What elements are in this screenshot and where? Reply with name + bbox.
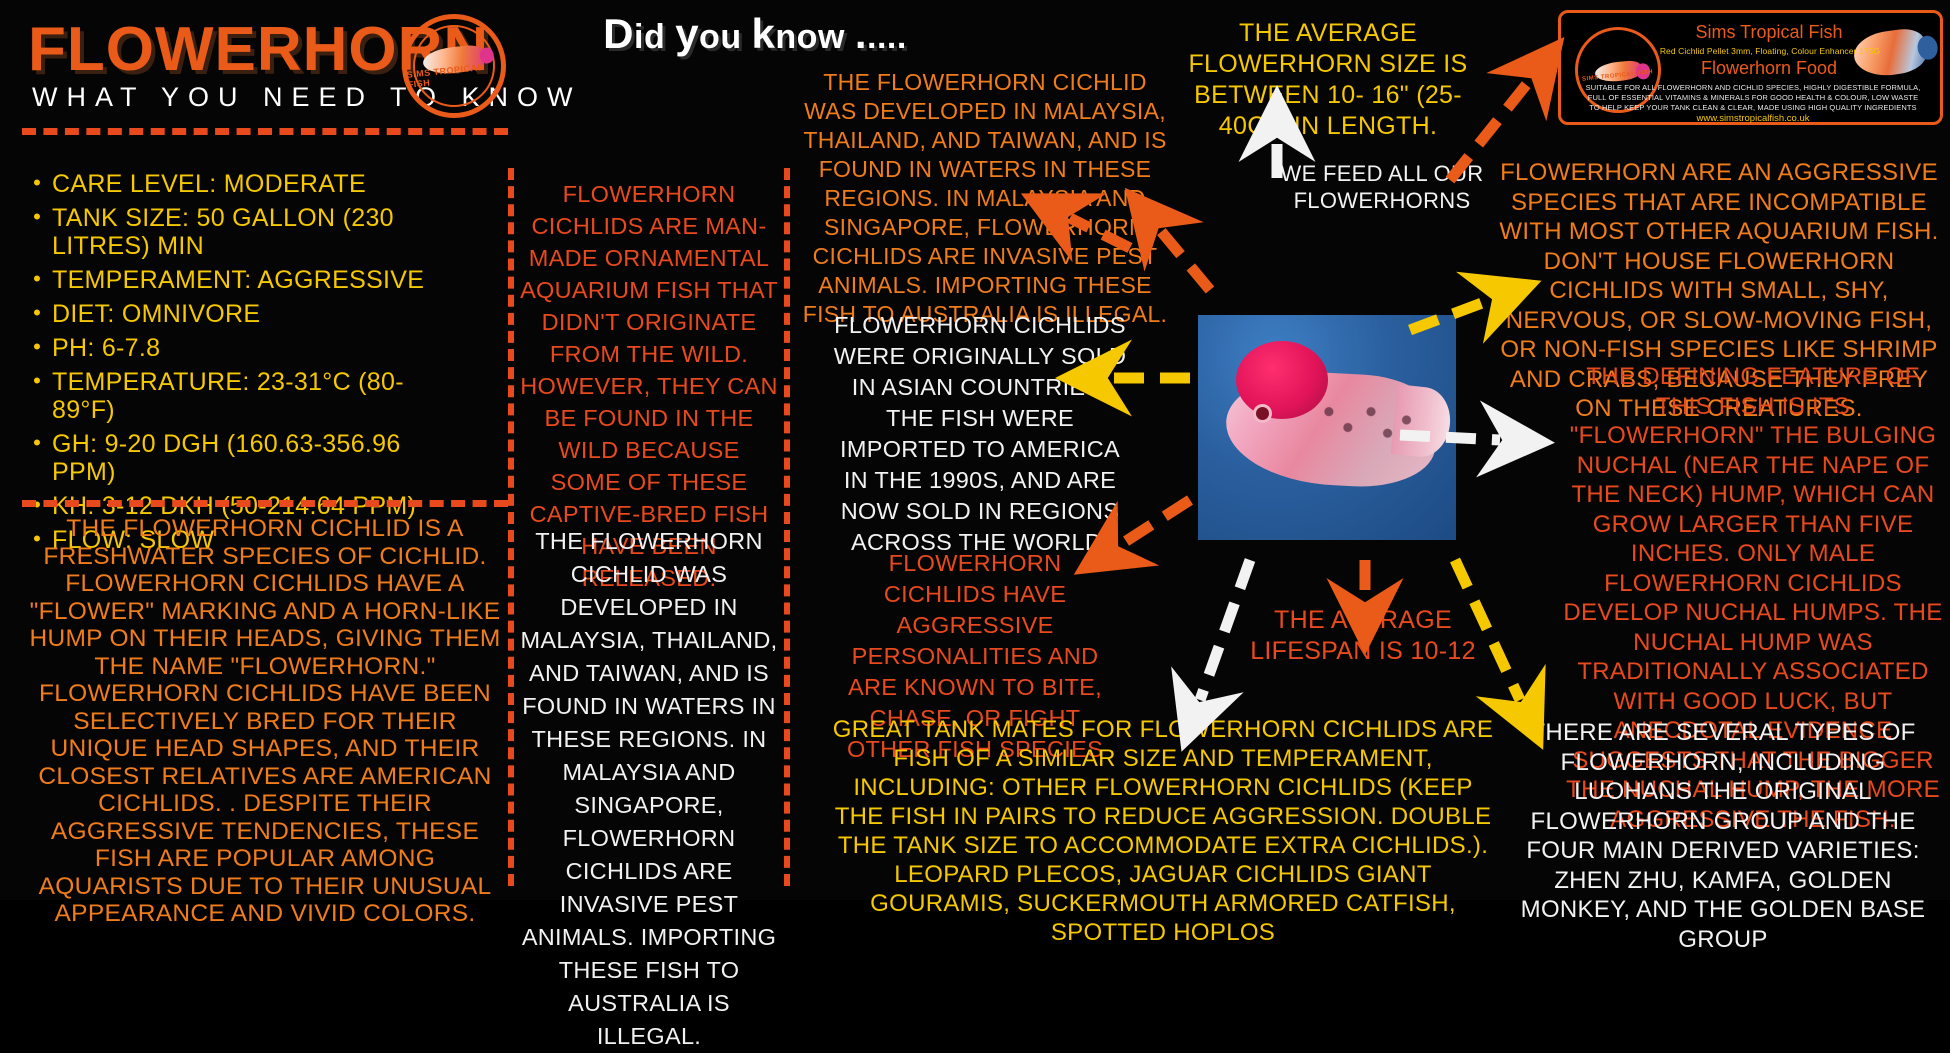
fish-eye-shape — [1256, 407, 1269, 420]
list-item-label: CARE LEVEL: MODERATE — [52, 170, 366, 198]
list-item: • DIET: OMNIVORE — [22, 300, 432, 328]
types-paragraph: THERE ARE SEVERAL TYPES OF FLOWERHORN, I… — [1498, 718, 1948, 954]
tank-mates-paragraph: GREAT TANK MATES FOR FLOWERHORN CICHLIDS… — [828, 715, 1498, 947]
intro-paragraph: THE FLOWERHORN CICHLID IS A FRESHWATER S… — [24, 515, 506, 928]
sponsor-ad-box[interactable]: SIMS TROPICAL FISH Sims Tropical Fish Re… — [1558, 10, 1943, 125]
list-item-label: TEMPERAMENT: AGGRESSIVE — [52, 266, 424, 294]
developed-top-paragraph: THE FLOWERHORN CICHLID WAS DEVELOPED IN … — [800, 68, 1170, 329]
bullet-icon: • — [22, 266, 52, 292]
list-item: • CARE LEVEL: MODERATE — [22, 170, 432, 198]
ad-website-url[interactable]: www.simstropicalfish.co.uk — [1583, 113, 1923, 124]
bullet-icon: • — [22, 204, 52, 230]
list-item-label: DIET: OMNIVORE — [52, 300, 260, 328]
ad-product-descriptor: Red Cichlid Pellet 3mm, Floating, Colour… — [1659, 46, 1881, 56]
ad-feature-list: SUITABLE FOR ALL FLOWERHORN AND CICHLID … — [1583, 83, 1923, 113]
divider-top-left — [22, 128, 508, 135]
nuchal-hump-shape — [1236, 341, 1328, 419]
bullet-icon: • — [22, 368, 52, 394]
originally-sold-paragraph: FLOWERHORN CICHLIDS WERE ORIGINALLY SOLD… — [830, 310, 1130, 558]
bullet-icon: • — [22, 170, 52, 196]
list-item-label: TEMPERATURE: 23-31°C (80-89°F) — [52, 368, 432, 424]
divider-mid-left — [22, 500, 508, 507]
list-item: • GH: 9-20 DGH (160.63-356.96 PPM) — [22, 430, 432, 486]
list-item: • TEMPERATURE: 23-31°C (80-89°F) — [22, 368, 432, 424]
list-item: • TEMPERAMENT: AGGRESSIVE — [22, 266, 432, 294]
arrow-downleft-white — [1200, 560, 1250, 700]
bullet-icon: • — [22, 430, 52, 456]
bullet-icon: • — [22, 334, 52, 360]
list-item-label: TANK SIZE: 50 GALLON (230 LITRES) MIN — [52, 204, 432, 260]
ad-product-name: Flowerhorn Food — [1669, 58, 1869, 79]
brand-logo: SIMS TROPICAL FISH — [402, 14, 506, 118]
flowerhorn-photo: 3 — [1198, 315, 1456, 540]
list-item-label: PH: 6-7.8 — [52, 334, 160, 362]
ad-brand-name: Sims Tropical Fish — [1669, 22, 1869, 43]
infographic-canvas: FLOWERHORN WHAT YOU NEED TO KNOW SIMS TR… — [0, 0, 1950, 900]
list-item: • PH: 6-7.8 — [22, 334, 432, 362]
list-item-label: GH: 9-20 DGH (160.63-356.96 PPM) — [52, 430, 432, 486]
arrow-downleft-orange — [1120, 500, 1190, 545]
average-size-paragraph: THE AVERAGE FLOWERHORN SIZE IS BETWEEN 1… — [1168, 18, 1488, 142]
lifespan-paragraph: THE AVERAGE LIFESPAN IS 10-12 — [1248, 605, 1478, 667]
we-feed-paragraph: WE FEED ALL OUR FLOWERHORNS — [1272, 160, 1492, 214]
bullet-icon: • — [22, 300, 52, 326]
list-item: • TANK SIZE: 50 GALLON (230 LITRES) MIN — [22, 204, 432, 260]
did-you-know-heading: Did you know ..... — [540, 10, 970, 58]
developed-paragraph: THE FLOWERHORN CICHLID WAS DEVELOPED IN … — [518, 525, 780, 1053]
fish-spots-shape — [1316, 394, 1420, 459]
